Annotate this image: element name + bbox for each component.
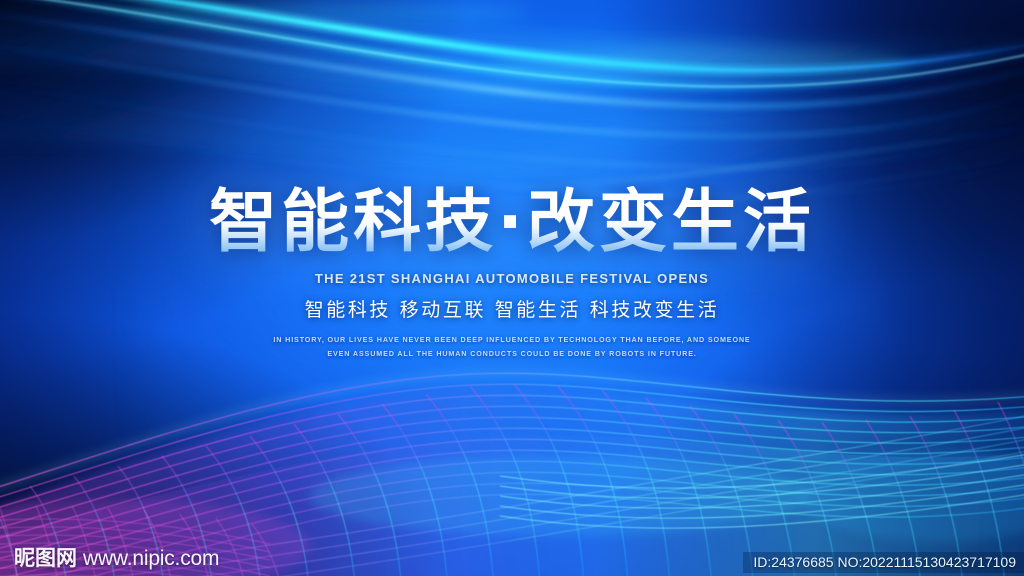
subtitle-chinese: 智能科技 移动互联 智能生活 科技改变生活 [0,295,1024,322]
poster-canvas: 智能科技·改变生活 THE 21ST SHANGHAI AUTOMOBILE F… [0,0,1024,576]
watermark-site-url: www.nipic.com [83,547,219,571]
headline-block: 智能科技·改变生活 THE 21ST SHANGHAI AUTOMOBILE F… [0,186,1024,360]
mesh-cyan-glow [310,456,810,536]
description-paragraph: IN HISTORY, OUR LIVES HAVE NEVER BEEN DE… [272,333,752,360]
watermark: 昵图网 www.nipic.com [14,542,219,572]
image-id-strip: ID:24376685 NO:20221115130423717109 [743,552,1024,573]
ribbon-highlight [490,50,910,78]
watermark-site-name: 昵图网 [14,542,77,572]
ribbon-highlight-2 [130,0,530,24]
page-title: 智能科技·改变生活 [0,186,1024,259]
subtitle-english: THE 21ST SHANGHAI AUTOMOBILE FESTIVAL OP… [0,271,1024,286]
